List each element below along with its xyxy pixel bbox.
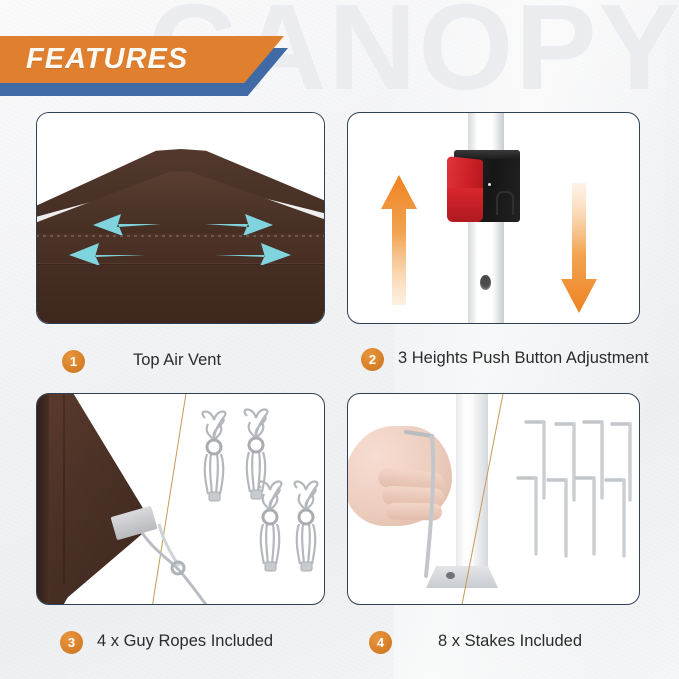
stake-8 xyxy=(604,476,630,560)
airflow-arrow-left-lower-icon xyxy=(67,233,147,265)
attached-guy-rope xyxy=(133,522,253,605)
airflow-arrow-right-lower-icon xyxy=(213,233,293,265)
pole-side-face xyxy=(474,393,488,586)
canopy-fabric-edge xyxy=(37,394,49,605)
feature-caption-2: 2 3 Heights Push Button Adjustment xyxy=(347,334,652,384)
feature-caption-1: 1 Top Air Vent xyxy=(36,338,341,384)
stake-6 xyxy=(546,476,572,560)
feature-label-2: 3 Heights Push Button Adjustment xyxy=(398,348,648,369)
height-down-arrow-icon xyxy=(560,183,598,313)
feature-image-2 xyxy=(347,112,640,324)
rope-coil-4 xyxy=(289,478,323,576)
feature-image-1 xyxy=(36,112,325,324)
housing-highlight-dot xyxy=(488,183,491,186)
feature-card-1: 1 Top Air Vent xyxy=(36,112,341,384)
feature-badge-1: 1 xyxy=(62,350,85,373)
feature-badge-4: 4 xyxy=(369,631,392,654)
feature-caption-4: 4 8 x Stakes Included xyxy=(347,619,652,665)
pole-height-hole xyxy=(480,275,491,290)
feature-card-2: 2 3 Heights Push Button Adjustment xyxy=(347,112,652,384)
feature-badge-2: 2 xyxy=(361,348,384,371)
canopy-fabric-seam xyxy=(63,394,65,584)
banner-orange-shape: FEATURES xyxy=(0,36,284,83)
feature-caption-3: 3 4 x Guy Ropes Included xyxy=(36,619,341,665)
held-stake xyxy=(402,426,462,586)
feature-label-4: 8 x Stakes Included xyxy=(438,631,582,652)
stake-7 xyxy=(574,474,600,558)
feature-image-4 xyxy=(347,393,640,605)
features-grid: 1 Top Air Vent xyxy=(0,112,679,679)
rope-coil-1 xyxy=(197,408,231,506)
feature-image-3 xyxy=(36,393,325,605)
rope-coil-3 xyxy=(253,478,287,576)
feature-badge-3: 3 xyxy=(60,631,83,654)
feature-card-3: 3 4 x Guy Ropes Included xyxy=(36,393,341,665)
feature-label-3: 4 x Guy Ropes Included xyxy=(97,631,273,652)
feature-label-1: Top Air Vent xyxy=(133,350,221,371)
red-push-button-face xyxy=(447,188,483,222)
feature-card-4: 4 8 x Stakes Included xyxy=(347,393,652,665)
airflow-arrow-right-upper-icon xyxy=(203,205,275,235)
stake-5 xyxy=(516,474,542,558)
height-up-arrow-icon xyxy=(380,175,418,305)
airflow-arrow-left-upper-icon xyxy=(91,205,163,235)
features-banner: FEATURES xyxy=(0,36,300,92)
housing-slot xyxy=(496,191,514,215)
banner-label: FEATURES xyxy=(0,43,188,76)
